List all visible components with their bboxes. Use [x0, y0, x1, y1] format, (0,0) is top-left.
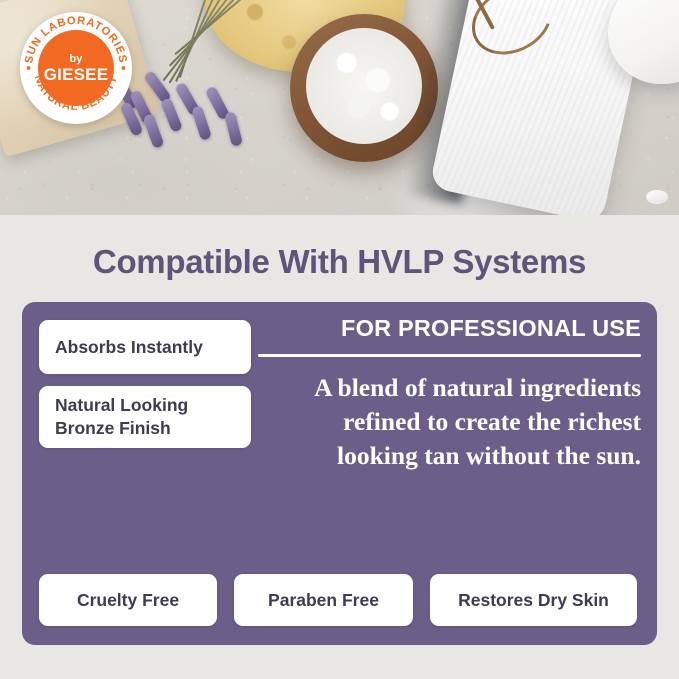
feature-pill-label-line2: Bronze Finish	[55, 417, 188, 440]
small-pebble-image	[646, 190, 668, 204]
product-description: A blend of natural ingredients refined t…	[258, 371, 641, 473]
feature-pill-label: Paraben Free	[268, 590, 379, 611]
feature-pill-label: Absorbs Instantly	[55, 336, 203, 359]
feature-pill-cruelty-free: Cruelty Free	[39, 574, 217, 626]
features-panel-inner: Absorbs Instantly Natural Looking Bronze…	[22, 302, 657, 645]
feature-pill-paraben-free: Paraben Free	[234, 574, 413, 626]
lavender-sprigs-image	[96, 0, 336, 174]
feature-pill-label-line1: Natural Looking	[55, 394, 188, 417]
features-panel: Absorbs Instantly Natural Looking Bronze…	[22, 302, 657, 645]
logo-core: by GIESEE ™	[38, 30, 114, 106]
professional-use-title: FOR PROFESSIONAL USE	[258, 314, 641, 343]
logo-brand-name-text: GIESEE	[44, 65, 109, 84]
feature-pill-restores-dry-skin: Restores Dry Skin	[430, 574, 637, 626]
divider	[258, 354, 641, 357]
brand-logo-badge: SUN LABORATORIES NATURAL BEAUTY by GIESE…	[20, 12, 132, 124]
features-left-column: Absorbs Instantly Natural Looking Bronze…	[39, 320, 251, 448]
feature-pill-label: Restores Dry Skin	[458, 590, 609, 611]
trademark-icon: ™	[111, 55, 117, 61]
page-title: Compatible With HVLP Systems	[0, 243, 679, 281]
professional-use-column: FOR PROFESSIONAL USE A blend of natural …	[258, 314, 641, 473]
features-bottom-row: Cruelty Free Paraben Free Restores Dry S…	[39, 574, 637, 626]
feature-pill-label: Cruelty Free	[77, 590, 179, 611]
feature-pill-absorbs-instantly: Absorbs Instantly	[39, 320, 251, 374]
logo-brand-name: GIESEE ™	[44, 66, 109, 83]
feature-pill-natural-looking-bronze-finish: Natural Looking Bronze Finish	[39, 386, 251, 448]
feature-pill-label-lines: Natural Looking Bronze Finish	[55, 394, 188, 440]
logo-by-label: by	[69, 54, 82, 65]
